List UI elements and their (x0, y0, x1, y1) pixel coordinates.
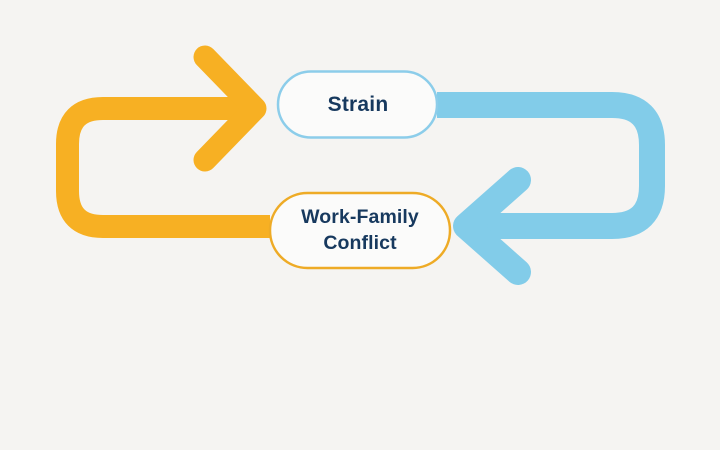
node-work-family-conflict-shape (270, 193, 450, 268)
cycle-diagram: Strain Work-Family Conflict (0, 0, 720, 450)
cycle-diagram-canvas: Strain Work-Family Conflict (0, 0, 720, 450)
node-strain[interactable]: Strain (278, 72, 437, 138)
node-work-family-conflict[interactable]: Work-Family Conflict (270, 193, 450, 268)
node-work-family-conflict-label-line2: Conflict (323, 232, 397, 254)
arrow-conflict-to-strain (68, 57, 271, 227)
arrow-strain-to-conflict (437, 105, 652, 272)
node-strain-label: Strain (328, 93, 389, 116)
node-work-family-conflict-label-line1: Work-Family (301, 206, 419, 228)
